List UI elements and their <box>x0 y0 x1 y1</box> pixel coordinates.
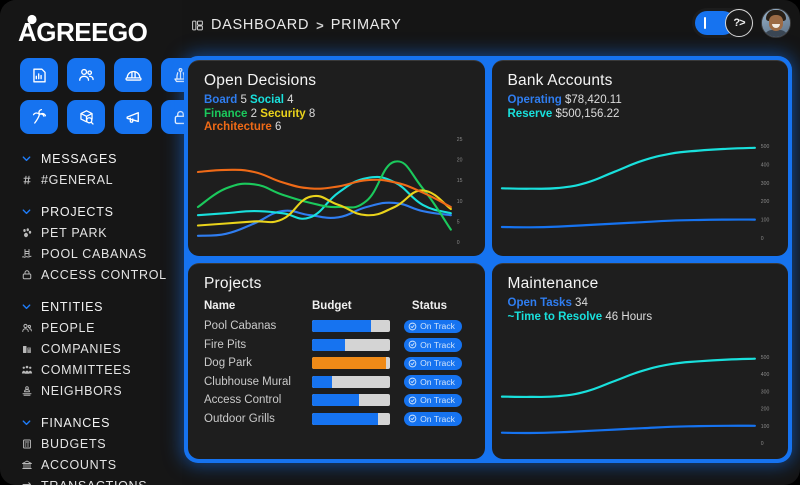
package-search-icon <box>77 108 96 127</box>
budget-progress-bar <box>312 320 390 332</box>
nav-group-label: PROJECTS <box>41 205 114 219</box>
y-axis-tick: 0 <box>760 236 763 242</box>
sidebar-item-transactions[interactable]: TRANSACTIONS <box>20 475 182 485</box>
help-toggle[interactable]: ?> <box>692 8 754 38</box>
sidebar-item-label: ACCOUNTS <box>41 458 117 472</box>
nav-group-projects: PROJECTS PET PARK <box>20 201 182 285</box>
help-question-arrow-icon: ?> <box>733 17 744 29</box>
sidebar-item-label: COMPANIES <box>41 342 121 356</box>
y-axis-tick: 20 <box>457 158 463 164</box>
column-header-status: Status <box>387 300 473 312</box>
chevron-down-icon <box>20 152 33 165</box>
nav-group-header-projects[interactable]: PROJECTS <box>20 201 182 222</box>
y-axis-tick: 300 <box>760 181 769 187</box>
table-row[interactable]: Pool CabanasOn Track <box>204 317 473 336</box>
breadcrumb-separator: > <box>316 18 324 33</box>
people-icon <box>77 66 96 85</box>
sidebar-item-label: #GENERAL <box>41 173 113 187</box>
sidebar-item-label: BUDGETS <box>41 437 106 451</box>
projects-table: Name Budget Status Pool CabanasOn TrackF… <box>204 300 473 428</box>
sidebar-item-label: POOL CABANAS <box>41 247 147 261</box>
svg-text:AGREEGO: AGREEGO <box>18 17 148 44</box>
series-line-time-to-resolve <box>501 359 754 397</box>
sidebar-item-label: COMMITTEES <box>41 363 131 377</box>
calculator-icon <box>20 437 33 450</box>
dashboard-app: AGREEGO <box>0 0 800 485</box>
header-actions: ?> <box>692 8 791 38</box>
building-icon <box>20 342 33 355</box>
open-decisions-chart: 0510152025 <box>194 127 481 252</box>
sidebar-item-label: TRANSACTIONS <box>41 479 147 485</box>
quick-icon-hard-hat[interactable] <box>114 58 152 92</box>
check-circle-icon <box>408 414 417 423</box>
status-label: On Track <box>420 340 455 350</box>
status-badge[interactable]: On Track <box>404 412 462 426</box>
budget-cell <box>312 357 390 369</box>
budget-progress-fill <box>312 339 345 351</box>
user-avatar[interactable] <box>761 8 791 38</box>
breadcrumb-current[interactable]: PRIMARY <box>331 17 402 33</box>
sidebar-item-label: PET PARK <box>41 226 107 240</box>
sidebar-item-label: ACCESS CONTROL <box>41 268 167 282</box>
legend-value-operating: $78,420.11 <box>565 94 622 106</box>
projects-table-header: Name Budget Status <box>204 300 473 312</box>
chevron-down-icon <box>20 300 33 313</box>
budget-cell <box>312 413 390 425</box>
y-axis-tick: 0 <box>760 441 763 447</box>
breadcrumb-root[interactable]: DASHBOARD <box>211 17 309 33</box>
y-axis-tick: 100 <box>760 218 769 224</box>
sidebar-nav: MESSAGES #GENERAL PROJEC <box>0 134 182 485</box>
panel-grid: Open Decisions Board 5 Social 4 Finance … <box>188 60 788 459</box>
sidebar-item-companies[interactable]: COMPANIES <box>20 338 182 359</box>
nav-group-finances: FINANCES BUDGETS <box>20 412 182 485</box>
quick-icon-megaphone[interactable] <box>114 100 152 134</box>
status-cell: On Track <box>390 375 476 389</box>
status-label: On Track <box>420 414 455 424</box>
panel-bank-accounts: Bank Accounts Operating $78,420.11 Reser… <box>492 60 789 256</box>
paw-icon <box>20 226 33 239</box>
status-label: On Track <box>420 377 455 387</box>
chart-document-icon <box>30 66 49 85</box>
budget-progress-fill <box>312 357 386 369</box>
quick-icon-palm-tree[interactable] <box>20 100 58 134</box>
neighbors-icon <box>20 384 33 397</box>
sidebar-item-pool-cabanas[interactable]: POOL CABANAS <box>20 243 182 264</box>
legend-value-finance: 2 <box>251 108 257 120</box>
budget-progress-fill <box>312 376 332 388</box>
y-axis-tick: 500 <box>760 144 769 150</box>
status-cell: On Track <box>390 320 476 334</box>
avatar-face <box>769 15 783 31</box>
project-name: Dog Park <box>204 357 312 369</box>
legend-value-time-to-resolve: 46 Hours <box>605 311 652 323</box>
budget-cell <box>312 376 390 388</box>
nav-group-label: MESSAGES <box>41 152 117 166</box>
check-circle-icon <box>408 359 417 368</box>
project-name: Access Control <box>204 394 312 406</box>
budget-progress-fill <box>312 394 359 406</box>
project-name: Fire Pits <box>204 339 312 351</box>
nav-group-header-finances[interactable]: FINANCES <box>20 412 182 433</box>
budget-progress-bar <box>312 357 390 369</box>
panel-maintenance: Maintenance Open Tasks 34 ~Time to Resol… <box>492 263 789 459</box>
y-axis-tick: 500 <box>760 355 769 361</box>
sidebar-item-committees[interactable]: COMMITTEES <box>20 359 182 380</box>
avatar-body <box>764 30 788 38</box>
quick-icon-chart-document[interactable] <box>20 58 58 92</box>
budget-progress-bar <box>312 376 390 388</box>
panel-title: Open Decisions <box>204 72 316 90</box>
legend-key-reserve: Reserve <box>508 108 553 120</box>
panel-title: Bank Accounts <box>508 72 613 90</box>
budget-progress-bar <box>312 339 390 351</box>
project-name: Outdoor Grills <box>204 413 312 425</box>
brand-logo[interactable]: AGREEGO <box>0 0 182 48</box>
legend-key-time-to-resolve: ~Time to Resolve <box>508 311 603 323</box>
y-axis-tick: 0 <box>457 240 460 246</box>
y-axis-tick: 5 <box>457 219 460 225</box>
budget-progress-fill <box>312 320 371 332</box>
legend-key-security: Security <box>260 108 305 120</box>
sidebar: AGREEGO <box>0 0 182 485</box>
sidebar-item-budgets[interactable]: BUDGETS <box>20 433 182 454</box>
projects-table-body: Pool CabanasOn TrackFire PitsOn TrackDog… <box>204 317 473 428</box>
status-badge[interactable]: On Track <box>404 338 462 352</box>
series-line-reserve <box>501 148 754 189</box>
status-badge[interactable]: On Track <box>404 357 462 371</box>
sidebar-item-access-control[interactable]: ACCESS CONTROL <box>20 264 182 285</box>
help-knob[interactable]: ?> <box>725 9 753 37</box>
budget-cell <box>312 394 390 406</box>
check-circle-icon <box>408 396 417 405</box>
y-axis-tick: 300 <box>760 389 769 395</box>
budget-cell <box>312 320 390 332</box>
status-label: On Track <box>420 395 455 405</box>
budget-progress-bar <box>312 394 390 406</box>
nav-group-header-entities[interactable]: ENTITIES <box>20 296 182 317</box>
sidebar-item-label: NEIGHBORS <box>41 384 122 398</box>
y-axis-tick: 200 <box>760 199 769 205</box>
panel-open-decisions: Open Decisions Board 5 Social 4 Finance … <box>188 60 485 256</box>
check-circle-icon <box>408 340 417 349</box>
breadcrumb: DASHBOARD > PRIMARY <box>190 17 401 33</box>
y-axis-tick: 400 <box>760 162 769 168</box>
nav-group-entities: ENTITIES PEOPLE <box>20 296 182 401</box>
y-axis-tick: 200 <box>760 407 769 413</box>
budget-progress-bar <box>312 413 390 425</box>
panel-title: Projects <box>204 275 262 293</box>
legend-key-social: Social <box>250 94 284 106</box>
bank-accounts-legend: Operating $78,420.11 Reserve $500,156.22 <box>508 94 622 121</box>
budget-progress-fill <box>312 413 378 425</box>
status-cell: On Track <box>390 412 476 426</box>
padlock-icon <box>20 268 33 281</box>
status-cell: On Track <box>390 394 476 408</box>
table-row[interactable]: Access ControlOn Track <box>204 391 473 410</box>
transfer-icon <box>20 479 33 485</box>
series-line-operating <box>501 220 754 228</box>
quick-icon-package-search[interactable] <box>67 100 105 134</box>
legend-value-security: 8 <box>309 108 315 120</box>
project-name: Clubhouse Mural <box>204 376 312 388</box>
sidebar-item-people[interactable]: PEOPLE <box>20 317 182 338</box>
hard-hat-icon <box>124 66 143 85</box>
palm-tree-icon <box>30 108 49 127</box>
status-cell: On Track <box>390 338 476 352</box>
panel-title: Maintenance <box>508 275 599 293</box>
bank-icon <box>20 458 33 471</box>
status-cell: On Track <box>390 357 476 371</box>
agreego-wordmark-icon: AGREEGO <box>18 14 168 44</box>
legend-value-board: 5 <box>240 94 246 106</box>
status-badge[interactable]: On Track <box>404 320 462 334</box>
hashtag-icon <box>20 173 33 186</box>
status-label: On Track <box>420 358 455 368</box>
maintenance-chart: 0100200300400500 <box>498 345 785 455</box>
status-badge[interactable]: On Track <box>404 394 462 408</box>
dashboard-grid-icon <box>190 18 204 32</box>
sidebar-item-accounts[interactable]: ACCOUNTS <box>20 454 182 475</box>
column-header-name: Name <box>204 300 312 312</box>
dashboard-glow-frame: Open Decisions Board 5 Social 4 Finance … <box>184 56 792 463</box>
legend-key-open-tasks: Open Tasks <box>508 297 572 309</box>
nav-group-label: FINANCES <box>41 416 110 430</box>
pool-icon <box>20 247 33 260</box>
legend-key-operating: Operating <box>508 94 562 106</box>
committee-icon <box>20 363 33 376</box>
nav-group-header-messages[interactable]: MESSAGES <box>20 148 182 169</box>
table-row[interactable]: Fire PitsOn Track <box>204 336 473 355</box>
sidebar-item-label: PEOPLE <box>41 321 95 335</box>
nav-group-messages: MESSAGES #GENERAL <box>20 148 182 190</box>
y-axis-tick: 15 <box>457 178 463 184</box>
series-line-open-tasks <box>501 426 754 433</box>
y-axis-tick: 25 <box>457 137 463 143</box>
legend-value-open-tasks: 34 <box>575 297 588 309</box>
sidebar-item-neighbors[interactable]: NEIGHBORS <box>20 380 182 401</box>
sidebar-item-general[interactable]: #GENERAL <box>20 169 182 190</box>
table-row[interactable]: Outdoor GrillsOn Track <box>204 410 473 429</box>
table-row[interactable]: Clubhouse MuralOn Track <box>204 373 473 392</box>
bank-accounts-chart: 0100200300400500 <box>498 130 785 252</box>
check-circle-icon <box>408 377 417 386</box>
nav-group-label: ENTITIES <box>41 300 103 314</box>
megaphone-icon <box>124 108 143 127</box>
quick-action-grid <box>0 48 182 134</box>
maintenance-legend: Open Tasks 34 ~Time to Resolve 46 Hours <box>508 297 653 324</box>
y-axis-tick: 10 <box>457 199 463 205</box>
quick-icon-people[interactable] <box>67 58 105 92</box>
sidebar-item-pet-park[interactable]: PET PARK <box>20 222 182 243</box>
status-label: On Track <box>420 321 455 331</box>
budget-cell <box>312 339 390 351</box>
status-badge[interactable]: On Track <box>404 375 462 389</box>
series-line-finance <box>198 161 451 229</box>
legend-value-social: 4 <box>287 94 293 106</box>
y-axis-tick: 100 <box>760 424 769 430</box>
toggle-indicator <box>704 17 706 29</box>
panel-projects: Projects Name Budget Status Pool Cabanas… <box>188 263 485 459</box>
project-name: Pool Cabanas <box>204 320 312 332</box>
chevron-down-icon <box>20 205 33 218</box>
chevron-down-icon <box>20 416 33 429</box>
people-icon <box>20 321 33 334</box>
check-circle-icon <box>408 322 417 331</box>
column-header-budget: Budget <box>312 300 387 312</box>
legend-key-board: Board <box>204 94 237 106</box>
legend-value-reserve: $500,156.22 <box>555 108 619 120</box>
legend-key-finance: Finance <box>204 108 247 120</box>
y-axis-tick: 400 <box>760 372 769 378</box>
table-row[interactable]: Dog ParkOn Track <box>204 354 473 373</box>
top-header: DASHBOARD > PRIMARY ?> <box>182 0 800 48</box>
